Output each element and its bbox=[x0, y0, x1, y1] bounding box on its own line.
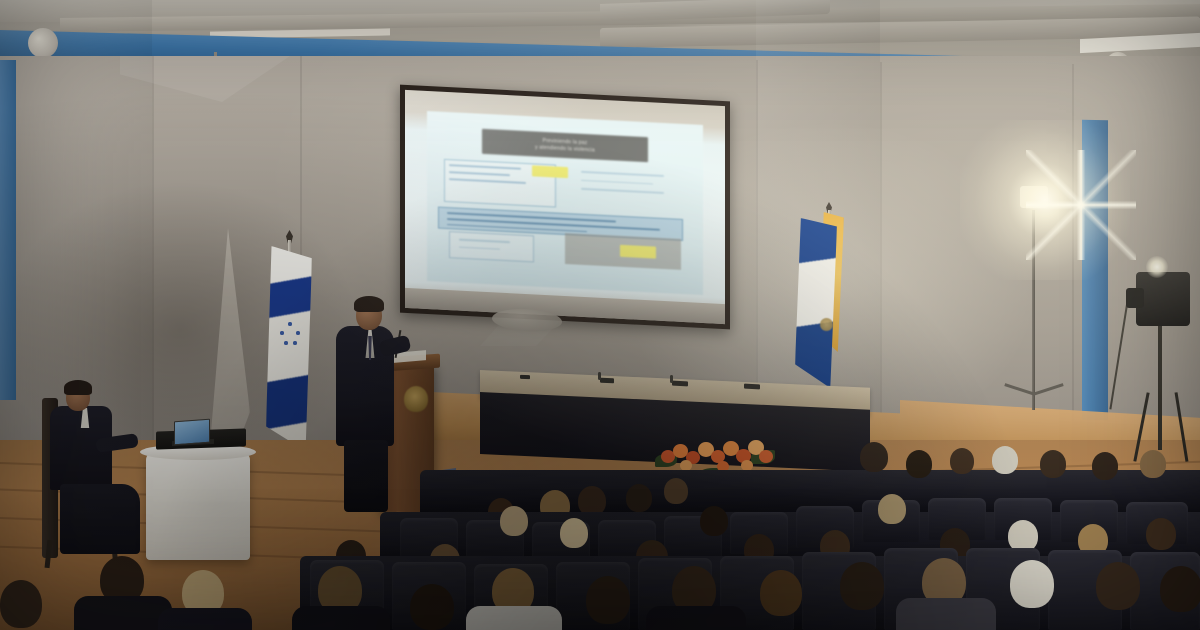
flag-honduras-stars bbox=[278, 322, 304, 352]
audience-member bbox=[1010, 560, 1054, 608]
audience-member bbox=[0, 580, 42, 628]
podium-emblem bbox=[404, 386, 428, 412]
audience-member bbox=[1096, 562, 1140, 610]
audience-member bbox=[992, 446, 1018, 474]
audience-member bbox=[760, 570, 802, 616]
video-light-stand bbox=[1032, 210, 1035, 410]
audience-member bbox=[560, 518, 588, 548]
audience-member bbox=[1040, 450, 1066, 478]
auditorium-photo: Previniendo la paz y atendiendo la viole… bbox=[0, 0, 1200, 630]
projection-screen: Previniendo la paz y atendiendo la viole… bbox=[400, 85, 730, 330]
audience-member bbox=[626, 484, 652, 512]
audience-member bbox=[906, 450, 932, 478]
table-microphone bbox=[670, 375, 673, 383]
speaker-hair bbox=[354, 296, 384, 312]
video-camera bbox=[1136, 272, 1190, 326]
audience-shoulders bbox=[158, 608, 252, 630]
audience-member bbox=[1092, 452, 1118, 480]
audience-member bbox=[860, 442, 888, 472]
audience-shoulders bbox=[292, 606, 390, 630]
table-nameplate bbox=[744, 384, 760, 390]
slide-highlight bbox=[620, 245, 656, 259]
slide-highlight bbox=[532, 165, 568, 178]
blue-wall-strip-left bbox=[0, 60, 16, 400]
audience-member bbox=[1160, 566, 1200, 612]
camera-tripod bbox=[1158, 320, 1162, 450]
technician-legs bbox=[60, 484, 140, 554]
audience-shoulders bbox=[466, 606, 562, 630]
audience-member bbox=[664, 478, 688, 504]
table-nameplate bbox=[672, 381, 688, 387]
laptop bbox=[174, 419, 210, 446]
video-light-head bbox=[1020, 186, 1048, 208]
screen-surface: Previniendo la paz y atendiendo la viole… bbox=[405, 90, 725, 324]
audience-member bbox=[1140, 450, 1166, 478]
audience-member bbox=[950, 448, 974, 474]
technician-hair bbox=[64, 380, 92, 395]
audience-member bbox=[878, 494, 906, 524]
slide-note-box bbox=[449, 231, 534, 263]
table-nameplate bbox=[600, 378, 614, 384]
skirted-round-table bbox=[146, 452, 250, 560]
audience-shoulders bbox=[896, 598, 996, 630]
camera-light bbox=[1146, 256, 1168, 278]
blue-wall-strip-right bbox=[1082, 120, 1108, 420]
flag-el-salvador bbox=[795, 218, 837, 388]
speaker-legs bbox=[344, 440, 388, 512]
table-nameplate bbox=[520, 375, 530, 379]
audience-shoulders bbox=[646, 606, 746, 630]
table-microphone bbox=[598, 372, 601, 380]
camera-lens bbox=[1126, 288, 1144, 308]
audience-member bbox=[586, 576, 630, 624]
audience-member bbox=[840, 562, 884, 610]
presentation-slide: Previniendo la paz y atendiendo la viole… bbox=[427, 111, 702, 295]
slide-title-block: Previniendo la paz y atendiendo la viole… bbox=[482, 129, 647, 163]
audience-member bbox=[500, 506, 528, 536]
flag-el-salvador-emblem bbox=[820, 318, 833, 331]
audience-member bbox=[410, 584, 454, 630]
audience-member bbox=[1146, 518, 1176, 550]
audience-member bbox=[700, 506, 728, 536]
